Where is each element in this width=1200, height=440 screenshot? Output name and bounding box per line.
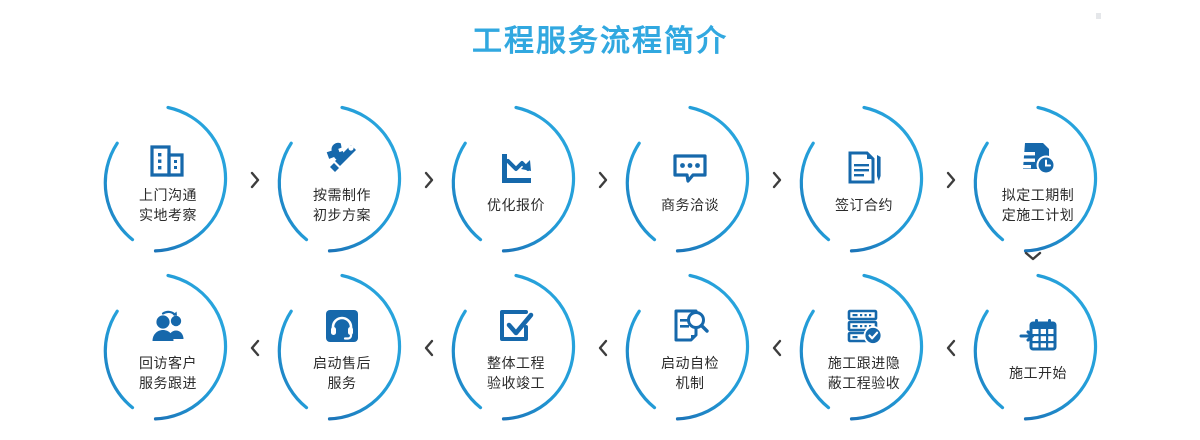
node-body: 整体工程 验收竣工	[440, 272, 592, 424]
flow-node-step-2[interactable]: 按需制作 初步方案	[266, 104, 418, 256]
node-label-line2: 服务	[328, 374, 357, 394]
node-label-line1: 按需制作	[313, 186, 371, 206]
node-label-line1: 整体工程	[487, 354, 545, 374]
flow-diagram-page: 工程服务流程简介	[0, 0, 1200, 440]
node-label-line2: 服务跟进	[139, 374, 197, 394]
flow-node-step-1[interactable]: 上门沟通 实地考察	[92, 104, 244, 256]
chevron-left-icon	[592, 337, 614, 359]
checkbox-check-icon	[494, 304, 538, 348]
node-body: 优化报价	[440, 104, 592, 256]
flow-node-step-5[interactable]: 签订合约	[788, 104, 940, 256]
node-body: 按需制作 初步方案	[266, 104, 418, 256]
node-label-line1: 商务洽谈	[661, 196, 719, 216]
flow-node-step-11[interactable]: 启动售后 服务	[266, 272, 418, 424]
document-pen-icon	[842, 146, 886, 190]
corner-artifact	[1096, 13, 1101, 19]
flow-node-step-10[interactable]: 整体工程 验收竣工	[440, 272, 592, 424]
node-label-line1: 优化报价	[487, 196, 545, 216]
chevron-right-icon	[418, 169, 440, 191]
flow-row-top: 上门沟通 实地考察 按需	[92, 104, 1112, 256]
document-magnifier-icon	[668, 304, 712, 348]
users-return-icon	[146, 304, 190, 348]
node-body: 施工跟进隐 蔽工程验收	[788, 272, 940, 424]
chevron-right-icon	[592, 169, 614, 191]
chevron-left-icon	[418, 337, 440, 359]
node-body: 启动自检 机制	[614, 272, 766, 424]
node-label-line1: 拟定工期制	[1002, 186, 1075, 206]
document-clock-icon	[1016, 136, 1060, 180]
node-label-line1: 回访客户	[139, 354, 197, 374]
flow-node-step-7[interactable]: 施工开始	[962, 272, 1114, 424]
node-label-line2: 验收竣工	[487, 374, 545, 394]
node-label-line2: 机制	[676, 374, 705, 394]
chevron-left-icon	[244, 337, 266, 359]
flow-node-step-3[interactable]: 优化报价	[440, 104, 592, 256]
chevron-left-icon	[766, 337, 788, 359]
flow-node-step-8[interactable]: 施工跟进隐 蔽工程验收	[788, 272, 940, 424]
chevron-right-icon	[766, 169, 788, 191]
chevron-right-icon	[940, 169, 962, 191]
flow-node-step-6[interactable]: 拟定工期制 定施工计划	[962, 104, 1114, 256]
node-label-line1: 启动售后	[313, 354, 371, 374]
node-label-line1: 施工开始	[1009, 364, 1067, 384]
node-body: 签订合约	[788, 104, 940, 256]
node-label-line1: 签订合约	[835, 196, 893, 216]
node-label-line2: 定施工计划	[1002, 206, 1075, 226]
flow-row-bottom: 回访客户 服务跟进	[92, 272, 1112, 424]
flow-node-step-9[interactable]: 启动自检 机制	[614, 272, 766, 424]
speech-bubble-icon	[668, 146, 712, 190]
node-label-line2: 初步方案	[313, 206, 371, 226]
flow-node-step-12[interactable]: 回访客户 服务跟进	[92, 272, 244, 424]
node-body: 施工开始	[962, 272, 1114, 424]
node-label-line1: 施工跟进隐	[828, 354, 901, 374]
flow-node-step-4[interactable]: 商务洽谈	[614, 104, 766, 256]
node-body: 回访客户 服务跟进	[92, 272, 244, 424]
node-label-line1: 启动自检	[661, 354, 719, 374]
chevron-left-icon	[940, 337, 962, 359]
node-body: 上门沟通 实地考察	[92, 104, 244, 256]
node-body: 商务洽谈	[614, 104, 766, 256]
building-icon	[146, 136, 190, 180]
node-label-line1: 上门沟通	[139, 186, 197, 206]
chevron-down-icon	[1022, 246, 1044, 266]
node-label-line2: 蔽工程验收	[828, 374, 901, 394]
server-check-icon	[842, 304, 886, 348]
calendar-arrow-icon	[1016, 314, 1060, 358]
page-title: 工程服务流程简介	[0, 22, 1200, 62]
node-body: 启动售后 服务	[266, 272, 418, 424]
headset-support-icon	[320, 304, 364, 348]
node-body: 拟定工期制 定施工计划	[962, 104, 1114, 256]
wrench-screwdriver-icon	[320, 136, 364, 180]
declining-chart-icon	[494, 146, 538, 190]
node-label-line2: 实地考察	[139, 206, 197, 226]
chevron-right-icon	[244, 169, 266, 191]
